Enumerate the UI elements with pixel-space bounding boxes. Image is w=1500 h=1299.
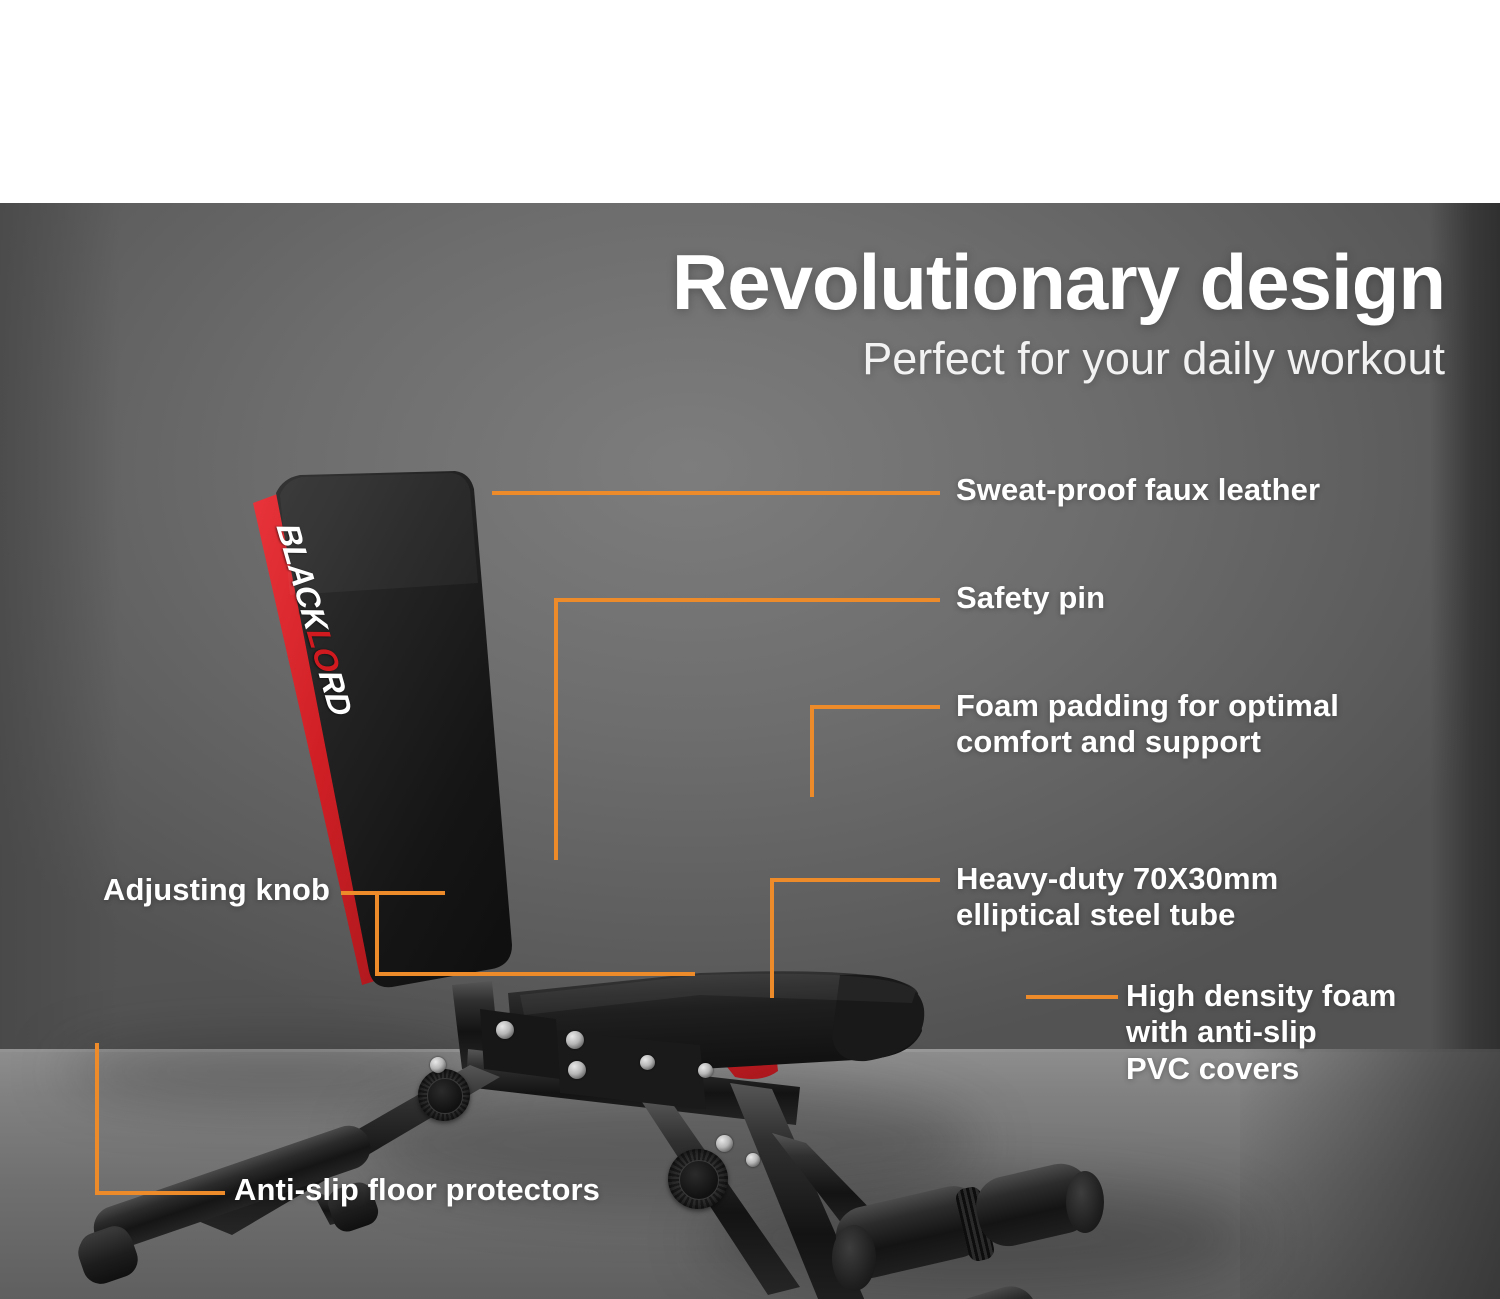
frame-bolt-3 bbox=[568, 1061, 586, 1079]
leader-line-safety-pin-vertical bbox=[554, 598, 558, 860]
leader-line-sweat-proof bbox=[492, 491, 940, 495]
top-white-band bbox=[0, 0, 1500, 203]
leader-line-foam-padding-vertical bbox=[810, 705, 814, 797]
leader-line-high-density-foam bbox=[1026, 995, 1118, 999]
callout-line: elliptical steel tube bbox=[956, 897, 1278, 933]
callout-steel-tube: Heavy-duty 70X30mm elliptical steel tube bbox=[956, 861, 1278, 934]
leader-line-safety-pin-horizontal bbox=[554, 598, 940, 602]
product-infographic: BLACKLORD Revolutionary design Perfect f… bbox=[0, 0, 1500, 1299]
adjusting-knob-lower-face bbox=[679, 1160, 719, 1200]
frame-bolt-4 bbox=[640, 1055, 655, 1070]
frame-bolt-2 bbox=[566, 1031, 584, 1049]
leader-line-adjusting-knob-drop bbox=[375, 891, 379, 976]
callout-line: Adjusting knob bbox=[0, 872, 330, 908]
leader-line-floor-protectors-horizontal bbox=[95, 1191, 225, 1195]
frame-bolt-8 bbox=[746, 1153, 760, 1167]
callout-foam-padding: Foam padding for optimal comfort and sup… bbox=[956, 688, 1339, 761]
headline-block: Revolutionary design Perfect for your da… bbox=[672, 243, 1445, 382]
frame-bolt-6 bbox=[430, 1057, 446, 1073]
callout-line: High density foam bbox=[1126, 978, 1396, 1014]
page-title: Revolutionary design bbox=[672, 243, 1445, 321]
callout-line: with anti-slip bbox=[1126, 1014, 1396, 1050]
leader-line-floor-protectors-vertical bbox=[95, 1043, 99, 1195]
leader-line-adjusting-knob-stem bbox=[341, 891, 445, 895]
frame-bolt-1 bbox=[496, 1021, 514, 1039]
frame-bolt-5 bbox=[698, 1063, 713, 1078]
leader-line-steel-tube-horizontal bbox=[770, 878, 940, 882]
foam-roller-outer-end bbox=[1066, 1171, 1104, 1233]
foam-roller-inner-end bbox=[832, 1225, 876, 1291]
callout-line: Anti-slip floor protectors bbox=[234, 1172, 600, 1208]
callout-sweat-proof-faux-leather: Sweat-proof faux leather bbox=[956, 472, 1320, 508]
page-subtitle: Perfect for your daily workout bbox=[672, 335, 1445, 382]
callout-line: Sweat-proof faux leather bbox=[956, 472, 1320, 508]
callout-anti-slip-floor-protectors: Anti-slip floor protectors bbox=[234, 1172, 600, 1208]
callout-safety-pin: Safety pin bbox=[956, 580, 1105, 616]
leader-line-steel-tube-vertical bbox=[770, 878, 774, 998]
callout-line: Safety pin bbox=[956, 580, 1105, 616]
callout-high-density-foam: High density foam with anti-slip PVC cov… bbox=[1126, 978, 1396, 1087]
backrest-hinge-plate bbox=[480, 1009, 560, 1079]
adjusting-knob-upper[interactable] bbox=[418, 1069, 470, 1121]
adjusting-knob-lower[interactable] bbox=[668, 1149, 728, 1209]
callout-line: Foam padding for optimal bbox=[956, 688, 1339, 724]
frame-bolt-7 bbox=[716, 1135, 733, 1152]
callout-line: Heavy-duty 70X30mm bbox=[956, 861, 1278, 897]
adjusting-knob-upper-face bbox=[427, 1078, 462, 1113]
callout-line: comfort and support bbox=[956, 724, 1339, 760]
callout-adjusting-knob: Adjusting knob bbox=[0, 872, 330, 908]
leader-line-foam-padding-horizontal bbox=[810, 705, 940, 709]
callout-line: PVC covers bbox=[1126, 1051, 1396, 1087]
leader-line-adjusting-knob-branch bbox=[375, 972, 695, 976]
